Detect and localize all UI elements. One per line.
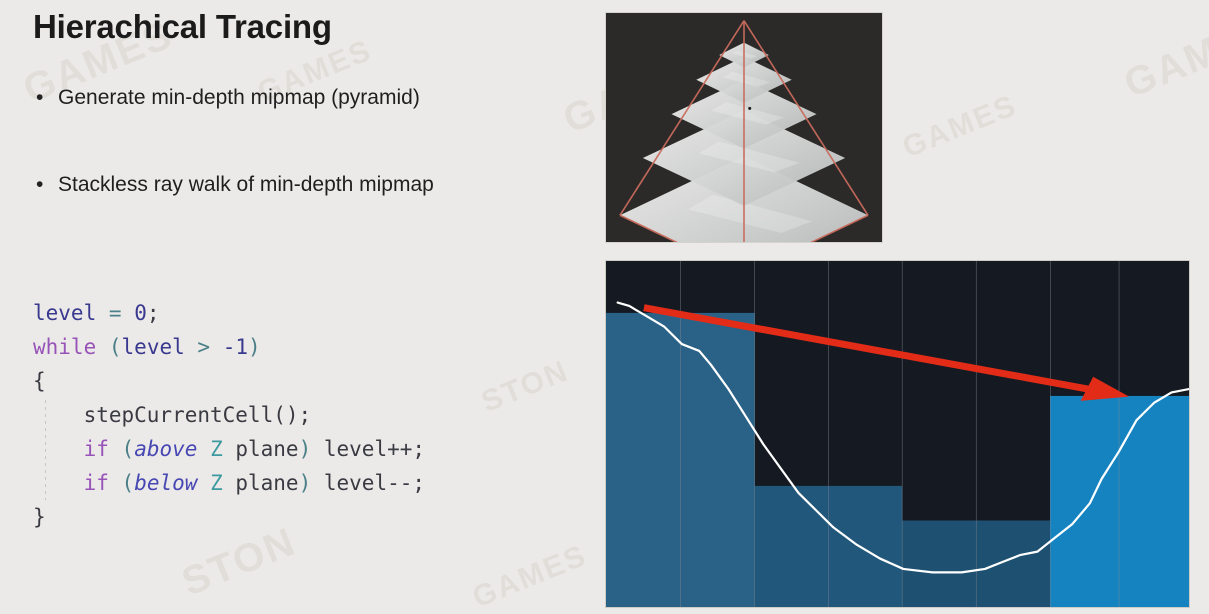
- code-token: ();: [273, 403, 311, 427]
- depth-cell-block: [755, 486, 829, 607]
- code-token: ): [299, 471, 312, 495]
- watermark-text: GAMES: [468, 539, 592, 614]
- code-token: level: [122, 335, 185, 359]
- page-title: Hierachical Tracing: [33, 8, 332, 46]
- hiz-raywalk-diagram: [605, 260, 1190, 608]
- code-token: Z: [210, 437, 223, 461]
- code-token: [197, 471, 210, 495]
- depth-cell-block: [902, 521, 976, 608]
- code-token: plane: [223, 437, 299, 461]
- depth-cell-block: [681, 313, 755, 607]
- code-token: [185, 335, 198, 359]
- code-token: ++;: [387, 437, 425, 461]
- bullet-text: Stackless ray walk of min-depth mipmap: [58, 172, 434, 198]
- code-token: if: [84, 437, 109, 461]
- code-token: [197, 437, 210, 461]
- depth-cell-block: [829, 486, 902, 607]
- hiz-svg: [606, 261, 1189, 607]
- code-token: [96, 335, 109, 359]
- code-token: }: [33, 505, 46, 529]
- code-token: [109, 471, 122, 495]
- code-token: [210, 335, 223, 359]
- mipmap-pyramid-image: [605, 12, 883, 243]
- bullet-list: • Generate min-depth mipmap (pyramid) • …: [36, 85, 576, 259]
- watermark-text: GAMES1: [1118, 0, 1209, 107]
- code-token: 0: [134, 301, 147, 325]
- depth-cell-block: [976, 521, 1050, 608]
- code-token: [33, 437, 84, 461]
- bullet-marker-icon: •: [36, 85, 58, 111]
- list-item: • Generate min-depth mipmap (pyramid): [36, 85, 576, 111]
- bullet-marker-icon: •: [36, 172, 58, 198]
- depth-cell-block: [606, 313, 681, 607]
- code-token: (: [109, 335, 122, 359]
- code-token: ): [299, 437, 312, 461]
- code-token: {: [33, 369, 46, 393]
- code-token: >: [197, 335, 210, 359]
- watermark-text: STON: [477, 354, 574, 420]
- code-line: }: [33, 500, 425, 534]
- code-token: [33, 471, 84, 495]
- code-token: [96, 301, 109, 325]
- code-token: if: [84, 471, 109, 495]
- code-token: Z: [210, 471, 223, 495]
- code-token: [109, 437, 122, 461]
- code-line: while (level > -1): [33, 330, 425, 364]
- code-token: -1: [223, 335, 248, 359]
- slide-root: GAMESGAMESGAMESGAMESGAMES1STONSTONGAMES …: [0, 0, 1209, 614]
- code-line: if (above Z plane) level++;: [33, 432, 425, 466]
- code-token: above: [134, 437, 197, 461]
- code-token: ): [248, 335, 261, 359]
- code-line: stepCurrentCell();: [33, 398, 425, 432]
- code-token: level: [311, 437, 387, 461]
- code-token: level: [311, 471, 387, 495]
- code-token: (: [122, 437, 135, 461]
- code-line: level = 0;: [33, 296, 425, 330]
- list-item: • Stackless ray walk of min-depth mipmap: [36, 172, 576, 198]
- code-token: ;: [147, 301, 160, 325]
- depth-cell-block: [1119, 396, 1189, 607]
- code-line: if (below Z plane) level--;: [33, 466, 425, 500]
- code-token: level: [33, 301, 96, 325]
- bullet-text: Generate min-depth mipmap (pyramid): [58, 85, 420, 111]
- code-token: while: [33, 335, 96, 359]
- code-token: plane: [223, 471, 299, 495]
- code-token: stepCurrentCell: [33, 403, 273, 427]
- code-token: [122, 301, 135, 325]
- code-token: (: [122, 471, 135, 495]
- watermark-text: GAMES: [898, 89, 1022, 165]
- code-token: --;: [387, 471, 425, 495]
- code-token: below: [134, 471, 197, 495]
- code-token: =: [109, 301, 122, 325]
- depth-cell-block: [1050, 396, 1119, 607]
- code-line: {: [33, 364, 425, 398]
- code-block: level = 0;while (level > -1){ stepCurren…: [33, 296, 425, 534]
- pyramid-svg: [606, 13, 882, 242]
